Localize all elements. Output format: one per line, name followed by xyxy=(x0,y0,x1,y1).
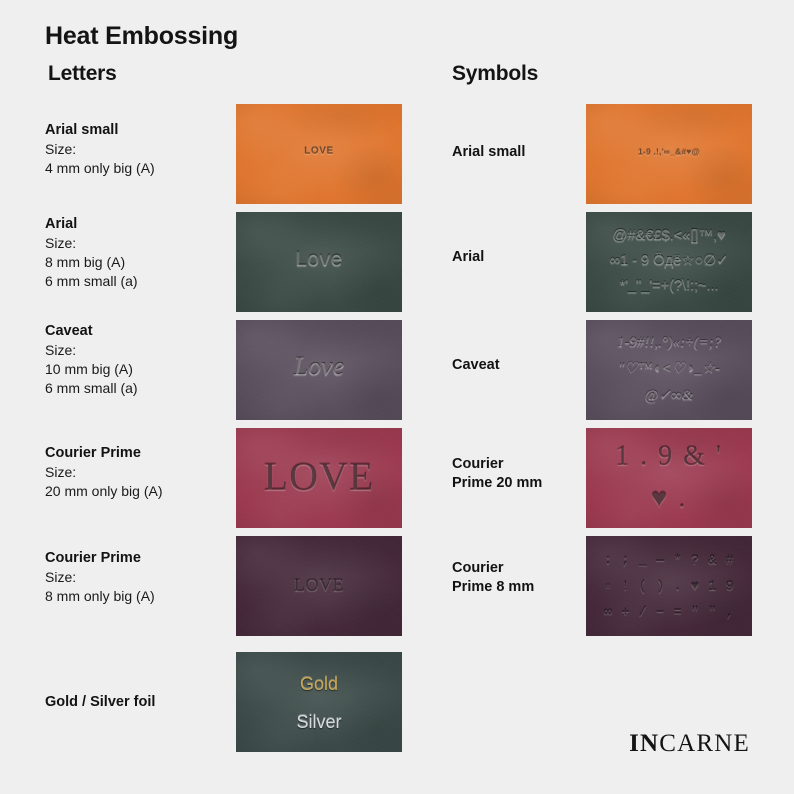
letters-font-meta-4: Size: 8 mm only big (A) xyxy=(45,568,155,605)
column-heading-letters: Letters xyxy=(48,62,117,86)
symbols-swatch-1: @#&€£$.<«[]™,♥ ∞1 - 9 Öдё☆○∅✓ *'_"_'=+(?… xyxy=(586,212,752,312)
leather-surface-1 xyxy=(236,212,402,312)
symbols-font-name-2: Caveat xyxy=(452,356,500,375)
letters-swatch-5: Gold Silver xyxy=(236,652,402,752)
letters-font-meta-2: Size: 10 mm big (A) 6 mm small (a) xyxy=(45,341,138,397)
brand-logo: INCARNE xyxy=(629,730,750,758)
leather-surface-4 xyxy=(236,536,402,636)
leather-surface-2 xyxy=(236,320,402,420)
letters-font-meta-3: Size: 20 mm only big (A) xyxy=(45,463,162,500)
symbols-font-name-4: Courier Prime 8 mm xyxy=(452,559,534,598)
leather-surface-s0 xyxy=(586,104,752,204)
poster-root: Heat Embossing Letters Symbols Arial sma… xyxy=(0,0,794,794)
leather-surface-s3 xyxy=(586,428,752,528)
letters-label-1: Arial Size: 8 mm big (A) 6 mm small (a) xyxy=(45,215,138,290)
letters-font-meta-1: Size: 8 mm big (A) 6 mm small (a) xyxy=(45,234,138,290)
symbols-label-0: Arial small xyxy=(452,143,525,162)
symbols-swatch-4: : ; _ — * ? & # ▫ ! ( ) . ♥ 1 9 ∞ + / − … xyxy=(586,536,752,636)
letters-font-name-1: Arial xyxy=(45,215,138,234)
letters-font-name-0: Arial small xyxy=(45,121,155,140)
leather-surface-s2 xyxy=(586,320,752,420)
symbols-swatch-3: 1 . 9 & ' ♥ . xyxy=(586,428,752,528)
letters-label-4: Courier Prime Size: 8 mm only big (A) xyxy=(45,549,155,606)
letters-swatch-4: LOVE xyxy=(236,536,402,636)
letters-label-5: Gold / Silver foil xyxy=(45,693,155,712)
letters-label-2: Caveat Size: 10 mm big (A) 6 mm small (a… xyxy=(45,322,138,397)
letters-label-0: Arial small Size: 4 mm only big (A) xyxy=(45,121,155,178)
letters-font-name-2: Caveat xyxy=(45,322,138,341)
letters-swatch-3: LOVE xyxy=(236,428,402,528)
symbols-label-1: Arial xyxy=(452,248,484,267)
symbols-font-name-0: Arial small xyxy=(452,143,525,162)
symbols-swatch-0: 1-9 .!,'∞_&#♥@ xyxy=(586,104,752,204)
leather-surface-s1 xyxy=(586,212,752,312)
page-title: Heat Embossing xyxy=(45,22,238,51)
brand-logo-bold: IN xyxy=(629,730,659,757)
letters-swatch-1: Love xyxy=(236,212,402,312)
letters-font-meta-0: Size: 4 mm only big (A) xyxy=(45,140,155,177)
leather-surface-0 xyxy=(236,104,402,204)
leather-surface-5 xyxy=(236,652,402,752)
symbols-swatch-2: 1-9#!!,.°)«:÷(=;? "♡™◖<♡◑_☆- @✓∞& xyxy=(586,320,752,420)
leather-surface-3 xyxy=(236,428,402,528)
column-heading-symbols: Symbols xyxy=(452,62,538,86)
leather-surface-s4 xyxy=(586,536,752,636)
letters-label-3: Courier Prime Size: 20 mm only big (A) xyxy=(45,444,162,501)
symbols-label-2: Caveat xyxy=(452,356,500,375)
symbols-label-4: Courier Prime 8 mm xyxy=(452,559,534,598)
brand-logo-light: CARNE xyxy=(659,730,750,757)
symbols-label-3: Courier Prime 20 mm xyxy=(452,455,542,494)
letters-font-name-3: Courier Prime xyxy=(45,444,162,463)
symbols-font-name-3: Courier Prime 20 mm xyxy=(452,455,542,494)
letters-font-name-4: Courier Prime xyxy=(45,549,155,568)
symbols-font-name-1: Arial xyxy=(452,248,484,267)
letters-swatch-2: Love xyxy=(236,320,402,420)
letters-font-name-5: Gold / Silver foil xyxy=(45,693,155,712)
letters-swatch-0: LOVE xyxy=(236,104,402,204)
